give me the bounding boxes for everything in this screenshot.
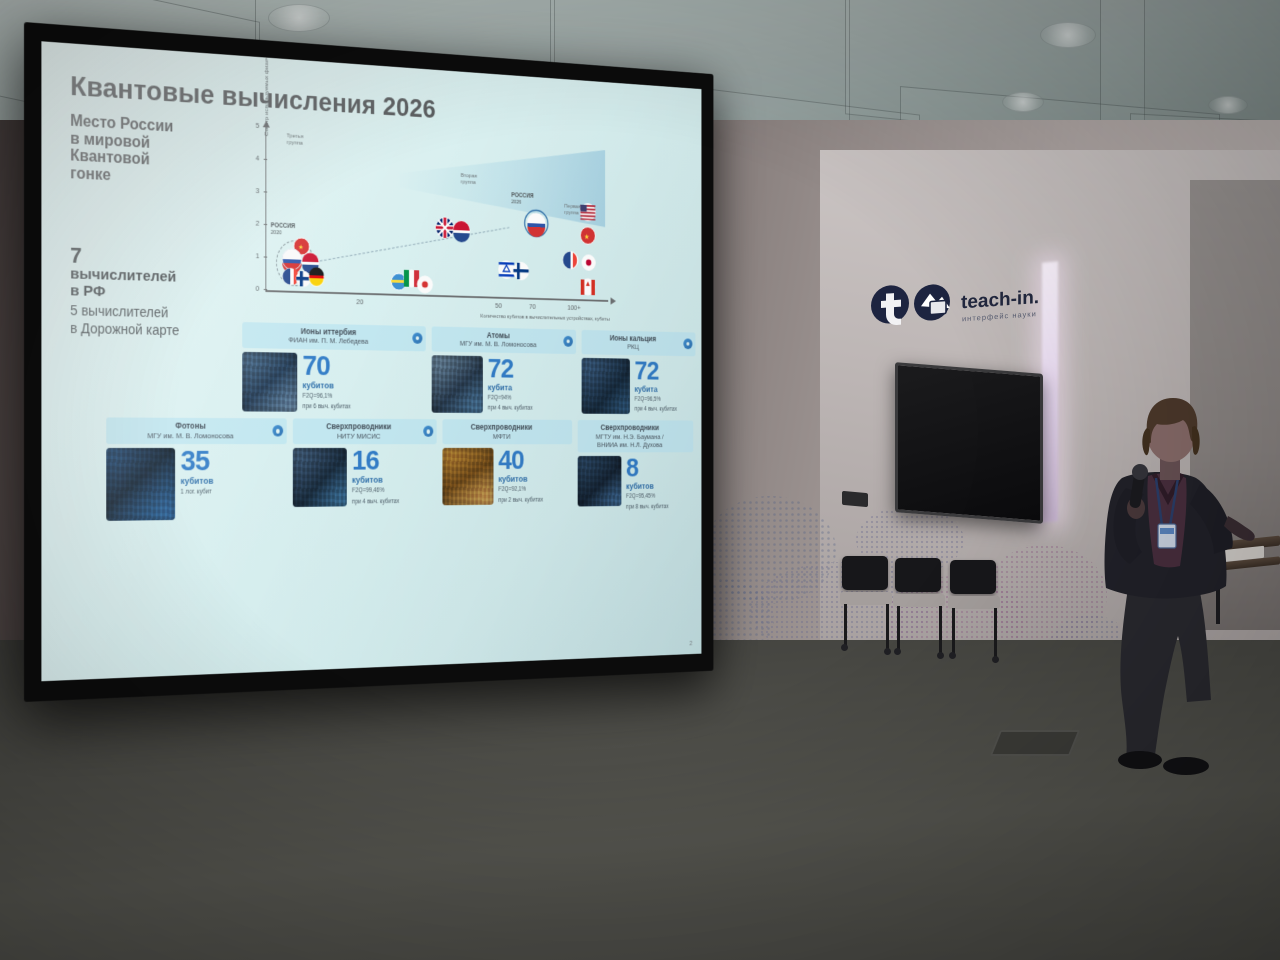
card-fidelity: F2Q=96,5% [635,396,677,404]
platform-card[interactable]: Ионы кальция РКЦ 72 кубита F2Q= [582,330,696,415]
y-tick: 3 [256,186,260,195]
badge-stripe [1160,528,1174,534]
card-qubit-unit: кубитов [181,476,214,486]
roadmap-line-2: в Дорожной карте [70,321,235,340]
card-fidelity: 1 лог. кубит [181,489,214,497]
card-qubits: 40 [498,449,543,473]
platform-card[interactable]: Сверхпроводники МГТУ им. Н.Э. Баумана /В… [578,420,694,515]
russia-2026-label: РОССИЯ2026 [511,192,533,207]
presenter-speaker [1078,392,1278,782]
platform-card[interactable]: Атомы МГУ им. М. В. Ломоносова 72 кубита [432,326,576,413]
teach-in-logo: teach-in.ru интерфейс науки [868,272,1038,342]
card-qubits: 35 [181,449,214,475]
presentation-slide: Квантовые вычисления 2026 Место Россиив … [41,41,701,681]
rosatom-badge-icon [683,339,692,350]
card-photo [106,448,175,521]
card-org: НИТУ МИСИС [298,431,418,440]
rosatom-badge-icon [412,333,422,344]
card-fidelity: F2Q=99,46% [352,487,399,495]
x-tick: 20 [356,297,363,306]
platform-card[interactable]: Сверхпроводники НИТУ МИСИС 16 кубитов [293,418,437,518]
ceiling-light-icon [1040,22,1096,48]
y-axis-label: Спектр используемых физических платформ [264,41,270,136]
card-fidelity: F2Q=94% [488,395,533,403]
wall-display[interactable] [895,362,1043,524]
card-qubits: 70 [302,353,350,379]
card-org: РКЦ [586,342,679,352]
card-qubit-unit: кубита [488,383,533,393]
card-org: МГУ им. М. В. Ломоносова [437,339,559,350]
card-org: МФТИ [447,432,554,441]
card-photo [242,351,297,411]
projector-mount [842,491,868,507]
card-header: Фотоны МГУ им. М. В. Ломоносова [106,417,286,444]
card-header: Ионы кальция РКЦ [582,330,696,356]
platform-cards: Ионы иттербия ФИАН им. П. М. Лебедева 70… [242,322,695,519]
card-qubit-unit: кубитов [498,474,543,483]
platform-card[interactable]: Ионы иттербия ФИАН им. П. М. Лебедева 70… [242,322,426,413]
card-qubit-unit: кубитов [352,475,399,485]
computer-count-label-2: в РФ [70,283,235,304]
presenter-hair-side [1142,428,1150,455]
slide-page-number: 2 [690,641,693,647]
stat-block: 7 вычислителей в РФ 5 вычислителей в Дор… [70,245,235,340]
card-photo [293,448,347,507]
microphone-head-icon [1132,464,1148,480]
card-header: Сверхпроводники НИТУ МИСИС [293,418,437,444]
card-qubits: 72 [488,357,533,382]
platform-card[interactable]: Фотоны МГУ им. М. В. Ломоносова 35 кубит… [106,417,286,520]
presenter-shoe [1163,757,1209,775]
card-title: Сверхпроводники [582,423,676,432]
y-tick: 1 [256,251,260,260]
russia-2026-marker [523,207,550,239]
card-row-1: Ионы иттербия ФИАН им. П. М. Лебедева 70… [242,322,695,415]
y-tick: 0 [256,284,260,293]
y-axis [265,126,266,292]
chart-plot-area: Спектр используемых физических платформ … [265,126,605,301]
rosatom-badge-icon [563,336,572,347]
platform-card[interactable]: Сверхпроводники МФТИ 40 кубитов F2Q=92,1… [442,419,572,516]
card-title: Сверхпроводники [298,422,418,432]
presenter-shoe [1118,751,1162,769]
annotation-second-group: Втораягруппа [461,173,477,188]
quantum-race-chart: Спектр используемых физических платформ … [242,119,695,327]
card-condition: при 4 выч. кубитах [352,498,399,506]
card-fidelity: F2Q=92,1% [498,486,543,494]
card-title: Сверхпроводники [447,423,554,432]
card-fidelity: F2Q=95,45% [626,493,669,501]
card-title: Фотоны [112,421,267,431]
card-photo [432,355,483,413]
card-org: МГУ им. М. В. Ломоносова [112,431,267,440]
card-qubits: 8 [626,457,669,481]
card-header: Атомы МГУ им. М. В. Ломоносова [432,326,576,354]
projection-screen: Квантовые вычисления 2026 Место Россиив … [24,22,713,702]
card-header: Ионы иттербия ФИАН им. П. М. Лебедева [242,322,426,351]
flag-cluster-first-group: ★ [561,200,600,299]
card-org: МГТУ им. Н.Э. Баумана /ВНИИА им. Н.Л. Ду… [582,432,676,448]
y-tick: 4 [256,153,260,162]
x-tick: 100+ [567,303,580,311]
flag-cluster-mid [389,264,441,297]
card-condition: при 2 выч. кубитах [498,496,543,504]
conference-room-scene: teach-in.ru интерфейс науки Квантовые вы… [0,0,1280,960]
ceiling-light-icon [268,4,330,32]
flag-cluster-second-group [434,214,477,244]
card-qubit-unit: кубита [635,385,677,394]
rosatom-badge-icon [273,425,284,436]
presenter-shirt [1147,473,1186,567]
card-header: Сверхпроводники МФТИ [442,419,572,444]
y-tick: 5 [256,121,260,130]
floor-hatch [990,730,1081,756]
annotation-third-group: Третьягруппа [287,133,304,148]
presenter-hair-side [1192,426,1200,455]
slide-subtitle: Место Россиив мировойКвантовойгонке [70,112,232,191]
flag-cluster-third-group: ★ [274,234,344,293]
x-tick: 50 [495,301,502,309]
card-photo [578,456,622,507]
y-tick: 2 [256,219,260,228]
svg-text:★: ★ [298,243,303,251]
x-axis-label: Количество кубитов в вычислительных устр… [480,313,609,322]
card-condition: при 8 выч. кубитах [626,503,669,511]
roadmap-line-1: 5 вычислителей [70,303,235,322]
card-header: Сверхпроводники МГТУ им. Н.Э. Баумана /В… [578,420,694,452]
flag-cluster-second-low [497,257,536,282]
card-qubit-unit: кубитов [626,482,669,491]
ceiling-light-icon [1208,96,1248,114]
card-photo [582,357,630,413]
card-fidelity: F2Q=96,1% [302,393,350,401]
badge [1158,524,1176,548]
card-qubits: 72 [635,359,677,383]
card-condition: при 4 выч. кубитах [488,405,533,413]
x-tick: 70 [529,302,536,310]
card-row-2: Фотоны МГУ им. М. В. Ломоносова 35 кубит… [106,417,695,520]
card-condition: при 6 выч. кубитах [302,404,350,412]
card-qubits: 16 [352,449,399,474]
slide-main-column: Спектр используемых физических платформ … [242,117,695,525]
rosatom-badge-icon [423,426,433,437]
ceiling-light-icon [1002,92,1044,112]
svg-text:★: ★ [584,232,590,240]
card-condition: при 4 выч. кубитах [635,406,677,414]
card-photo [442,448,493,505]
card-qubit-unit: кубитов [302,380,350,390]
